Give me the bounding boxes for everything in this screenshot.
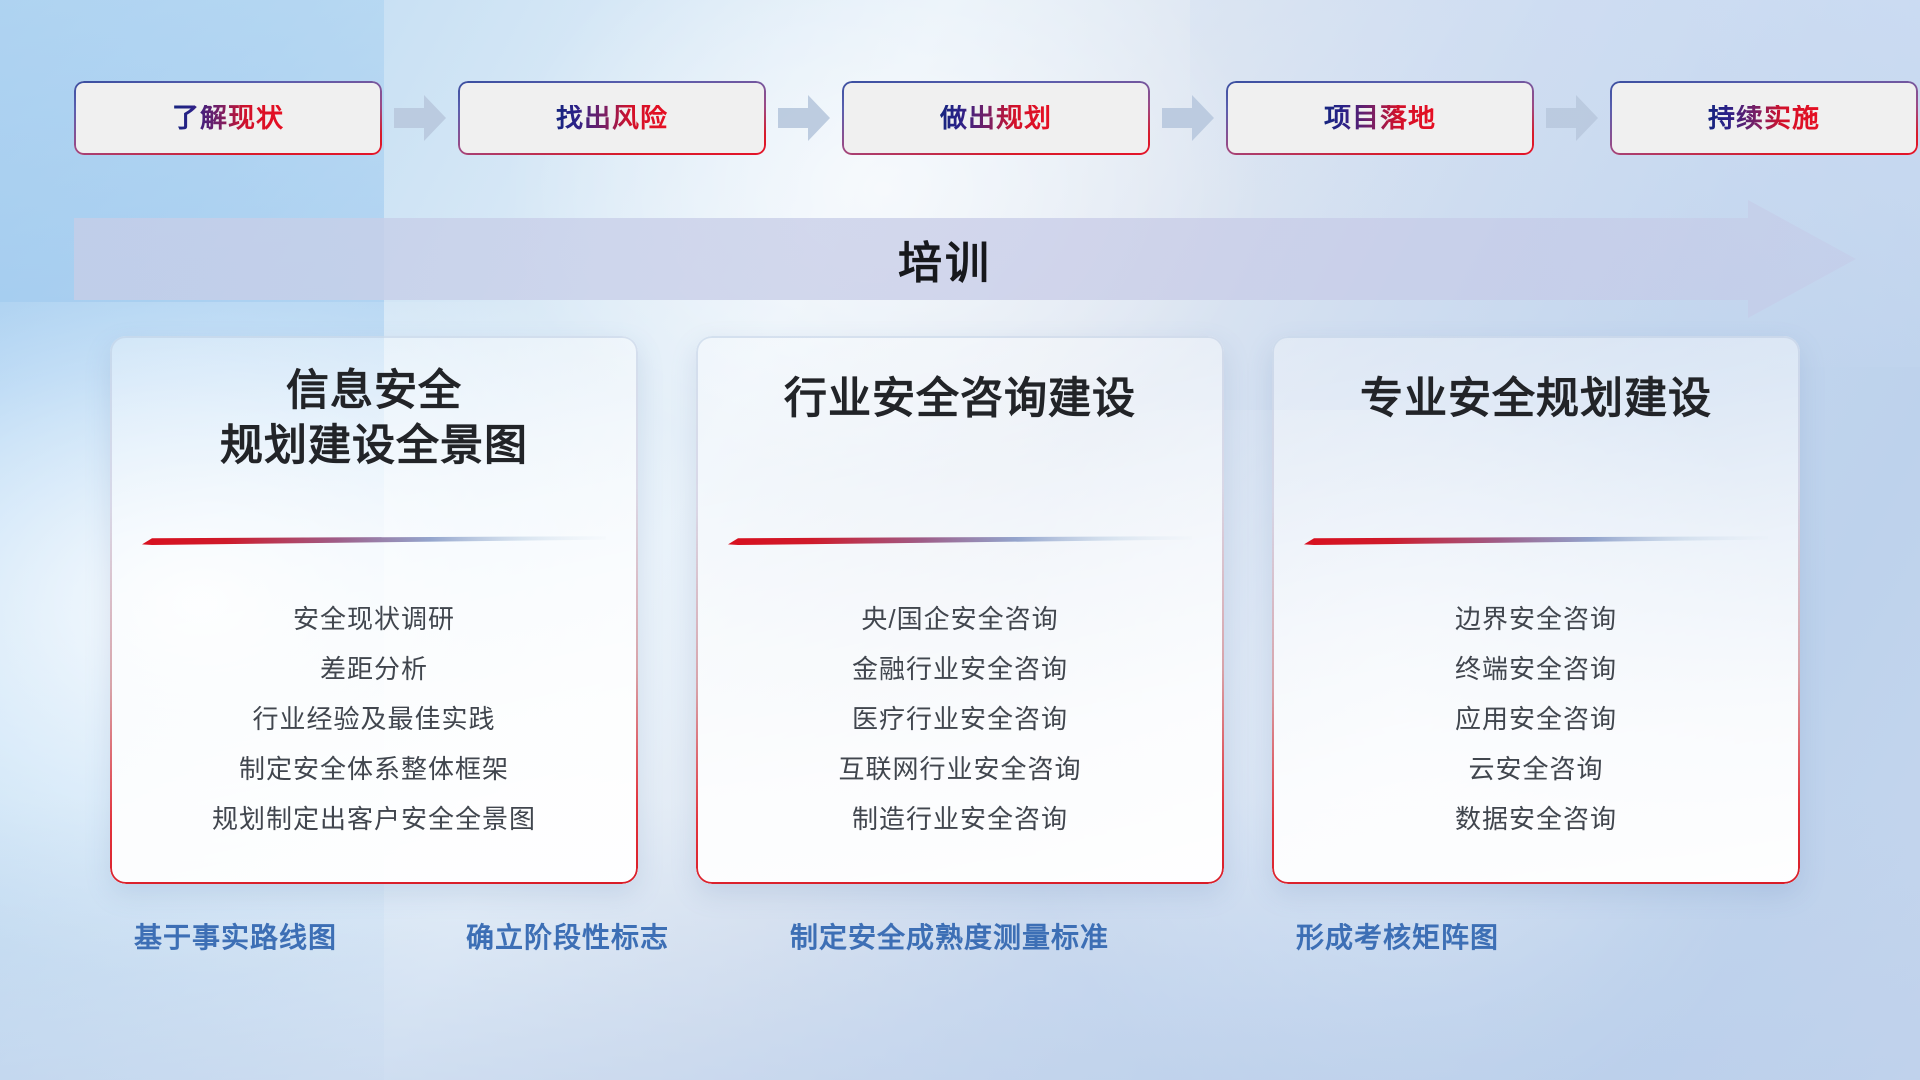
red-gradient-rule bbox=[1304, 536, 1768, 545]
process-step-label: 了解现状 bbox=[172, 105, 284, 132]
training-banner: 培训 bbox=[74, 200, 1856, 318]
banner-title: 培训 bbox=[74, 200, 1856, 318]
list-item[interactable]: 制造行业安全咨询 bbox=[852, 794, 1068, 844]
service-card-title: 行业安全咨询建设 bbox=[696, 372, 1224, 427]
service-card-1[interactable]: 行业安全咨询建设央/国企安全咨询金融行业安全咨询医疗行业安全咨询互联网行业安全咨… bbox=[696, 336, 1224, 884]
red-gradient-rule bbox=[728, 536, 1192, 545]
process-steps-row: 了解现状找出风险做出规划项目落地持续实施 bbox=[74, 78, 1846, 158]
list-item[interactable]: 数据安全咨询 bbox=[1455, 794, 1617, 844]
service-card-title: 专业安全规划建设 bbox=[1272, 372, 1800, 427]
list-item[interactable]: 终端安全咨询 bbox=[1455, 644, 1617, 694]
process-step-label: 找出风险 bbox=[556, 105, 668, 132]
service-cards-row: 信息安全 规划建设全景图安全现状调研差距分析行业经验及最佳实践制定安全体系整体框… bbox=[0, 336, 1920, 892]
service-card-title: 信息安全 规划建设全景图 bbox=[110, 364, 638, 474]
service-card-list: 央/国企安全咨询金融行业安全咨询医疗行业安全咨询互联网行业安全咨询制造行业安全咨… bbox=[696, 594, 1224, 844]
process-step-1[interactable]: 找出风险 bbox=[458, 81, 766, 155]
list-item[interactable]: 金融行业安全咨询 bbox=[852, 644, 1068, 694]
outcome-label-0: 基于事实路线图 bbox=[134, 916, 337, 956]
process-step-4[interactable]: 持续实施 bbox=[1610, 81, 1918, 155]
process-step-label: 持续实施 bbox=[1708, 105, 1820, 132]
red-gradient-rule bbox=[142, 536, 606, 545]
outcome-label-1: 确立阶段性标志 bbox=[466, 916, 669, 956]
slide-canvas: 了解现状找出风险做出规划项目落地持续实施 培训 信息安全 规划建设全景图安全现状… bbox=[0, 0, 1920, 1080]
outcome-labels-row: 基于事实路线图确立阶段性标志制定安全成熟度测量标准形成考核矩阵图 bbox=[0, 916, 1920, 968]
process-step-3[interactable]: 项目落地 bbox=[1226, 81, 1534, 155]
list-item[interactable]: 央/国企安全咨询 bbox=[861, 594, 1058, 644]
arrow-right-icon bbox=[1162, 92, 1214, 144]
list-item[interactable]: 行业经验及最佳实践 bbox=[252, 694, 495, 744]
service-card-0[interactable]: 信息安全 规划建设全景图安全现状调研差距分析行业经验及最佳实践制定安全体系整体框… bbox=[110, 336, 638, 884]
outcome-label-3: 形成考核矩阵图 bbox=[1296, 916, 1499, 956]
process-step-label: 项目落地 bbox=[1324, 105, 1436, 132]
arrow-right-icon bbox=[778, 92, 830, 144]
list-item[interactable]: 规划制定出客户安全全景图 bbox=[212, 794, 536, 844]
list-item[interactable]: 应用安全咨询 bbox=[1455, 694, 1617, 744]
process-step-label: 做出规划 bbox=[940, 105, 1052, 132]
list-item[interactable]: 差距分析 bbox=[320, 644, 428, 694]
outcome-label-2: 制定安全成熟度测量标准 bbox=[790, 916, 1109, 956]
service-card-list: 安全现状调研差距分析行业经验及最佳实践制定安全体系整体框架规划制定出客户安全全景… bbox=[110, 594, 638, 844]
arrow-right-icon bbox=[1546, 92, 1598, 144]
list-item[interactable]: 安全现状调研 bbox=[293, 594, 455, 644]
process-step-2[interactable]: 做出规划 bbox=[842, 81, 1150, 155]
service-card-list: 边界安全咨询终端安全咨询应用安全咨询云安全咨询数据安全咨询 bbox=[1272, 594, 1800, 844]
list-item[interactable]: 医疗行业安全咨询 bbox=[852, 694, 1068, 744]
list-item[interactable]: 边界安全咨询 bbox=[1455, 594, 1617, 644]
list-item[interactable]: 制定安全体系整体框架 bbox=[239, 744, 509, 794]
service-card-2[interactable]: 专业安全规划建设边界安全咨询终端安全咨询应用安全咨询云安全咨询数据安全咨询 bbox=[1272, 336, 1800, 884]
list-item[interactable]: 云安全咨询 bbox=[1468, 744, 1603, 794]
process-step-0[interactable]: 了解现状 bbox=[74, 81, 382, 155]
list-item[interactable]: 互联网行业安全咨询 bbox=[838, 744, 1081, 794]
arrow-right-icon bbox=[394, 92, 446, 144]
